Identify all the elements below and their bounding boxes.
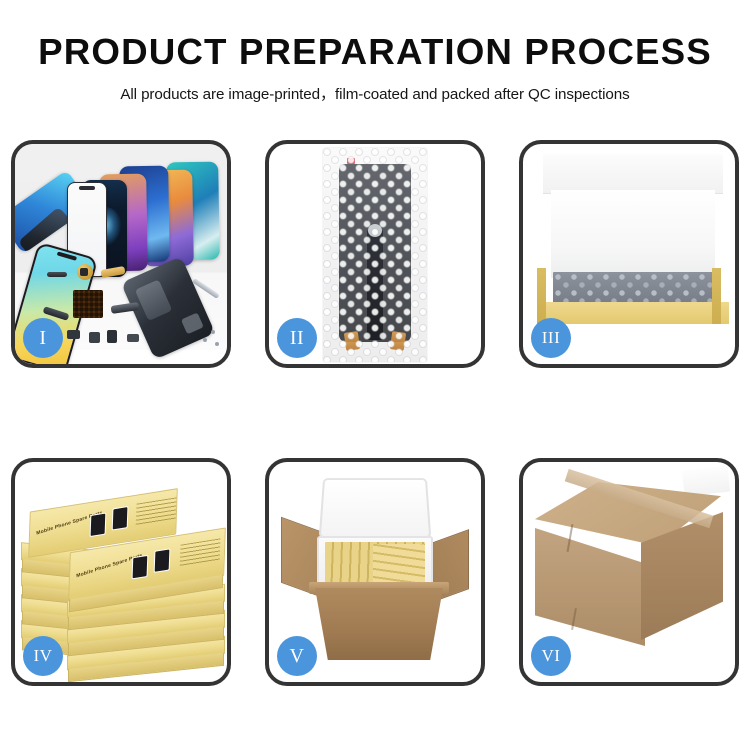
retail-box-thumbnail xyxy=(90,512,107,537)
retail-box-thumbnail xyxy=(112,506,129,531)
header: PRODUCT PREPARATION PROCESS All products… xyxy=(0,0,750,104)
screw-icon xyxy=(211,330,215,334)
step-badge-4: IV xyxy=(23,636,63,676)
retail-box-spec-lines xyxy=(136,497,177,525)
part-vibration-motor xyxy=(89,332,100,343)
product-preparation-infographic: PRODUCT PREPARATION PROCESS All products… xyxy=(0,0,750,750)
step-badge-5: V xyxy=(277,636,317,676)
kraft-box-left-wall xyxy=(537,268,546,324)
process-step-panel-1: I xyxy=(11,140,231,368)
part-connector-clip xyxy=(107,330,117,343)
bubble-wrap-bag xyxy=(323,148,427,362)
part-camera-module xyxy=(67,330,80,339)
step-badge-2: II xyxy=(277,318,317,358)
stretch-wrap-corner xyxy=(682,466,730,497)
box-inner-foam-sheet xyxy=(551,190,715,278)
carton-body xyxy=(315,588,443,660)
step-badge-1: I xyxy=(23,318,63,358)
part-earpiece-mesh xyxy=(47,272,67,277)
process-step-panel-6: VI xyxy=(519,458,739,686)
box-lid-open xyxy=(543,154,723,194)
part-circuit-board xyxy=(73,290,103,318)
retail-box-thumbnail xyxy=(154,548,171,573)
process-step-panel-3: III xyxy=(519,140,739,368)
process-step-grid: I II xyxy=(11,140,739,686)
screw-icon xyxy=(215,342,219,346)
part-shield-plate xyxy=(127,334,139,342)
part-speaker-module xyxy=(77,264,93,280)
carton-front-face xyxy=(535,528,645,646)
retail-box-thumbnail xyxy=(132,555,149,580)
process-step-panel-2: II xyxy=(265,140,485,368)
process-step-panel-4: Mobile Phone Spare Parts Mobile Phone Sp… xyxy=(11,458,231,686)
step-badge-6: VI xyxy=(531,636,571,676)
step-badge-3: III xyxy=(531,318,571,358)
screw-icon xyxy=(203,338,207,342)
grey-bubble-padding xyxy=(553,272,713,306)
foam-box-lid xyxy=(319,478,432,538)
kraft-box-right-wall xyxy=(712,268,721,324)
retail-boxes-in-foam xyxy=(373,544,425,584)
process-step-panel-5: V xyxy=(265,458,485,686)
retail-box-spec-lines xyxy=(180,538,221,566)
page-subtitle: All products are image-printed，film-coat… xyxy=(0,82,750,104)
kraft-box-front-wall xyxy=(537,302,729,324)
bubble-texture xyxy=(323,148,427,362)
page-title: PRODUCT PREPARATION PROCESS xyxy=(0,33,750,72)
